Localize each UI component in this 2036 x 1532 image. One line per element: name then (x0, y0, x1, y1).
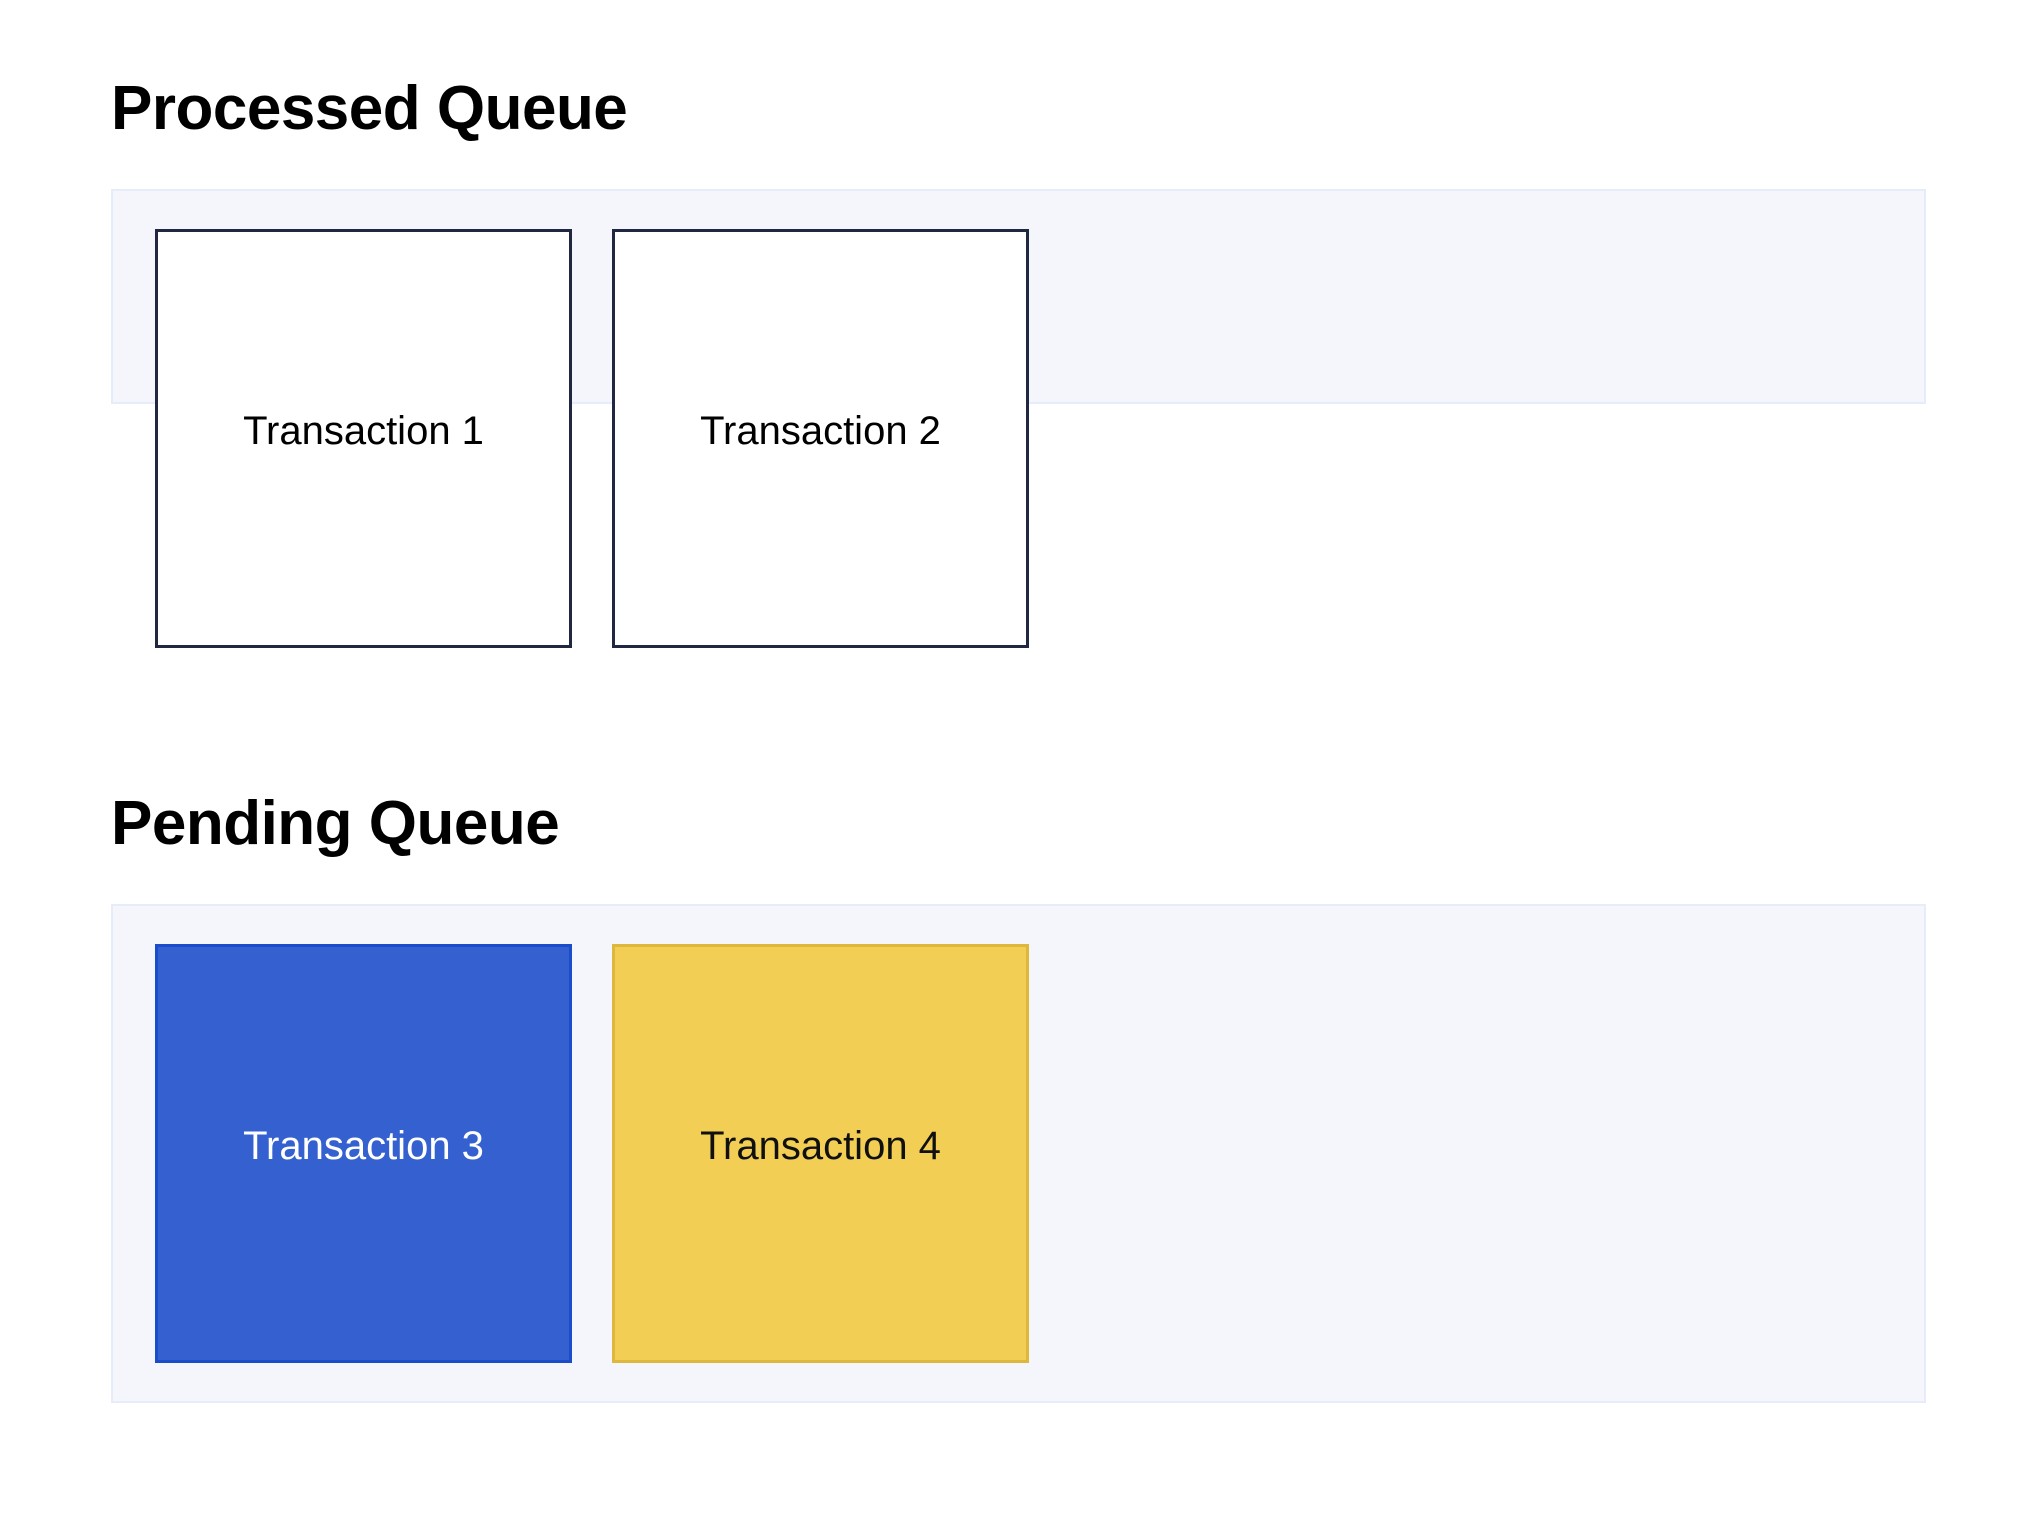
transaction-card-3-label: Transaction 3 (243, 1122, 484, 1170)
transaction-card-1[interactable]: Transaction 1 (155, 229, 572, 648)
transaction-card-2[interactable]: Transaction 2 (612, 229, 1029, 648)
transaction-card-4-label: Transaction 4 (700, 1122, 941, 1170)
pending-queue-title: Pending Queue (111, 793, 1926, 855)
processed-queue-container: Transaction 1 Transaction 2 (111, 189, 1926, 404)
transaction-card-2-label: Transaction 2 (700, 407, 941, 455)
pending-queue-container: Transaction 3 Transaction 4 (111, 904, 1926, 1403)
transaction-card-1-label: Transaction 1 (243, 407, 484, 455)
transaction-card-3[interactable]: Transaction 3 (155, 944, 572, 1363)
transaction-card-4[interactable]: Transaction 4 (612, 944, 1029, 1363)
processed-queue-section: Processed Queue Transaction 1 Transactio… (111, 78, 1926, 404)
queue-visualization-page: Processed Queue Transaction 1 Transactio… (0, 0, 2036, 1532)
processed-queue-title: Processed Queue (111, 78, 1926, 140)
pending-queue-section: Pending Queue Transaction 3 Transaction … (111, 793, 1926, 1403)
